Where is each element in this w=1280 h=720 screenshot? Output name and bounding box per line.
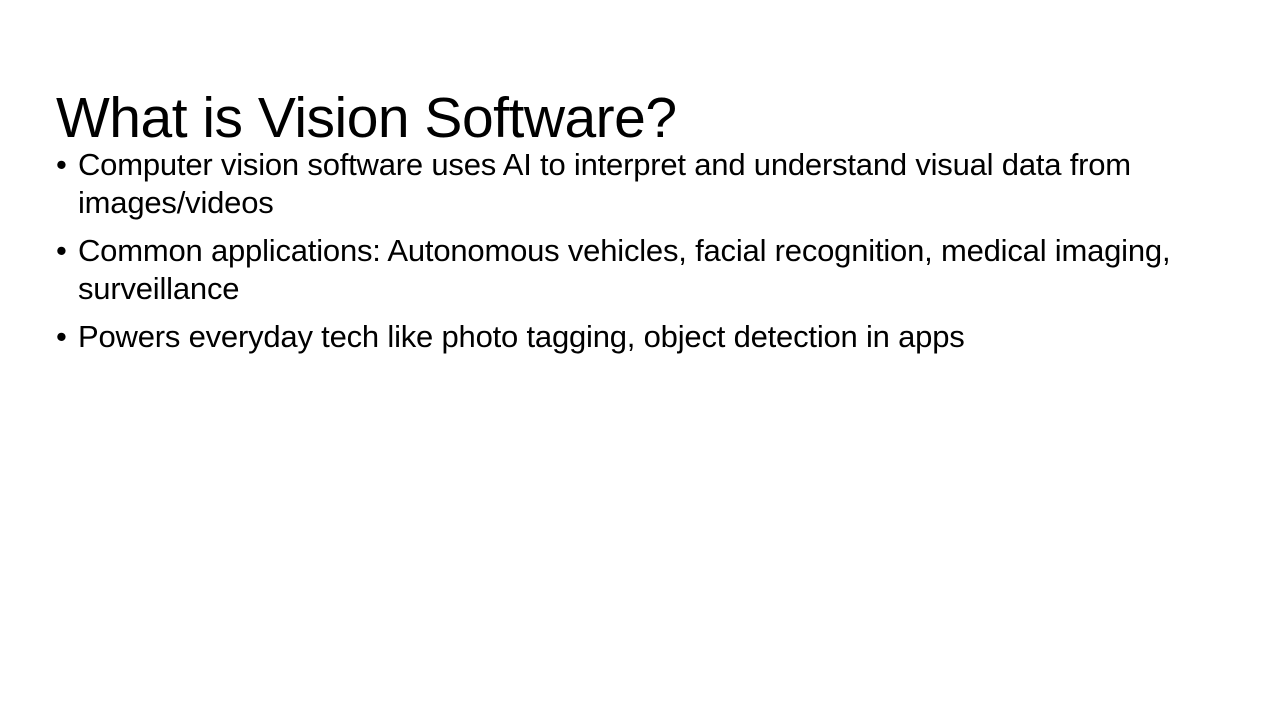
list-item: • Computer vision software uses AI to in… <box>56 146 1181 222</box>
bullet-list: • Computer vision software uses AI to in… <box>56 146 1181 356</box>
list-item-text: Computer vision software uses AI to inte… <box>78 146 1181 222</box>
bullet-point-icon: • <box>56 146 78 184</box>
list-item: • Common applications: Autonomous vehicl… <box>56 232 1181 308</box>
list-item-text: Powers everyday tech like photo tagging,… <box>78 318 1181 356</box>
bullet-point-icon: • <box>56 318 78 356</box>
page-title: What is Vision Software? <box>56 86 1226 151</box>
list-item-text: Common applications: Autonomous vehicles… <box>78 232 1181 308</box>
slide-canvas: What is Vision Software? • Computer visi… <box>0 0 1280 720</box>
list-item: • Powers everyday tech like photo taggin… <box>56 318 1181 356</box>
bullet-point-icon: • <box>56 232 78 270</box>
